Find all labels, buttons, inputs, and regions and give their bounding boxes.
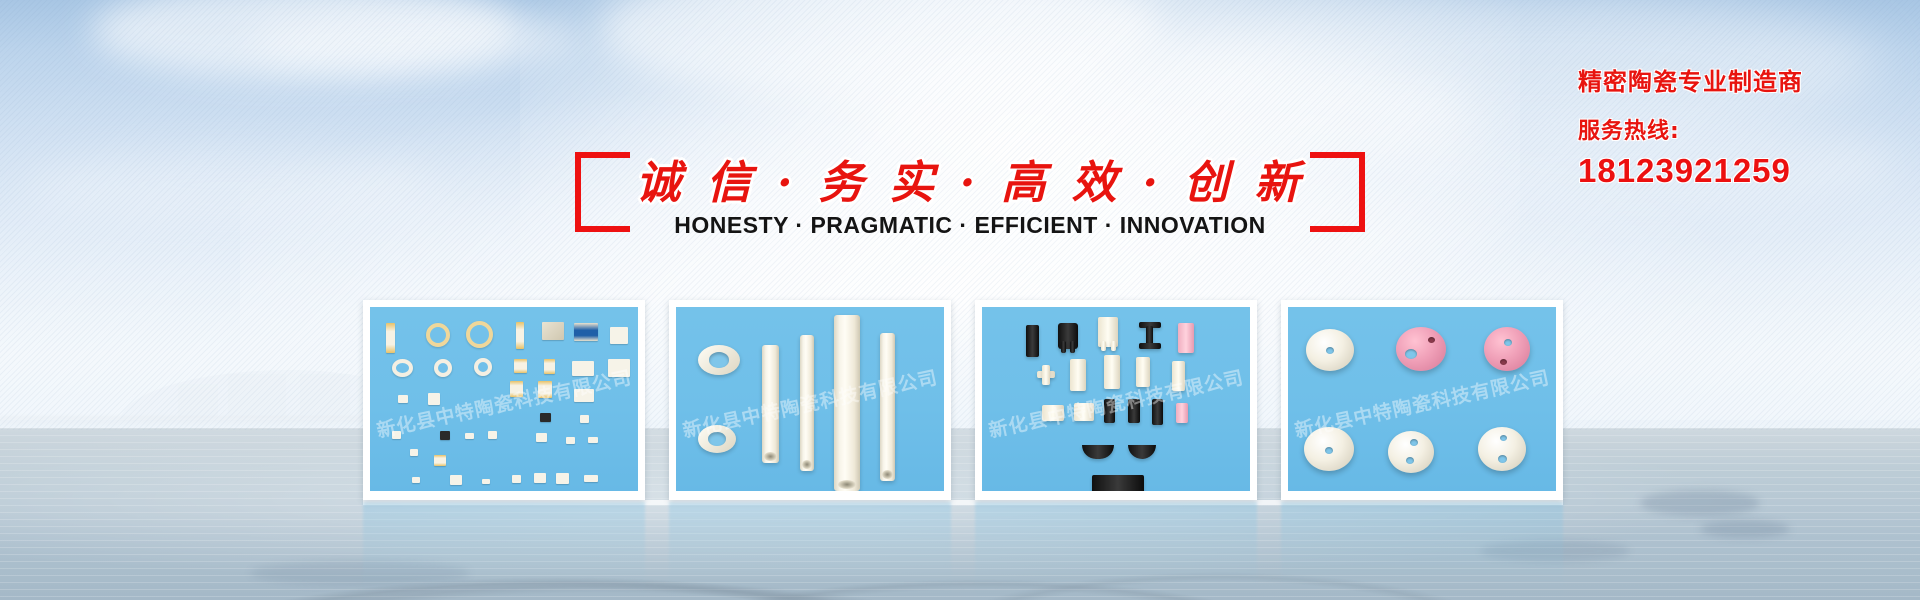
product-item [1101, 341, 1106, 351]
product-item [834, 315, 860, 491]
product-hole [1500, 359, 1507, 365]
product-item [1082, 445, 1114, 459]
puddle-shape [1480, 540, 1630, 562]
panel-ceramic-discs[interactable]: 新化县中特陶瓷科技有限公司 [1281, 300, 1563, 500]
product-item [698, 345, 740, 375]
product-item [1092, 475, 1144, 491]
panel-reflection-edge [363, 500, 1563, 505]
product-item [1396, 327, 1446, 371]
product-item [1128, 445, 1156, 459]
product-item [474, 358, 492, 376]
product-item [412, 477, 420, 483]
hero-banner: 诚 信 · 务 实 · 高 效 · 创 新 HONESTY · PRAGMATI… [0, 0, 1920, 600]
product-item [540, 413, 551, 422]
product-item [1070, 341, 1075, 353]
product-hole [1428, 337, 1435, 343]
product-panel-row: 新化县中特陶瓷科技有限公司 [363, 300, 1563, 500]
panel-watermark: 新化县中特陶瓷科技有限公司 [374, 362, 634, 442]
panel-image-area: 新化县中特陶瓷科技有限公司 [676, 307, 944, 491]
product-item [1139, 343, 1161, 349]
product-item [1042, 405, 1064, 421]
panel-image-area: 新化县中特陶瓷科技有限公司 [370, 307, 638, 491]
contact-info-block: 精密陶瓷专业制造商 服务热线: 18123921259 [1578, 62, 1908, 190]
panel-ceramic-tubes[interactable]: 新化县中特陶瓷科技有限公司 [669, 300, 951, 500]
product-item [1042, 365, 1050, 385]
product-hole [1500, 435, 1507, 441]
product-item [1128, 399, 1140, 423]
product-hole [1406, 457, 1414, 464]
company-tagline: 精密陶瓷专业制造商 [1578, 62, 1908, 97]
product-item [534, 473, 546, 483]
product-item [1061, 341, 1066, 353]
product-hole [1498, 455, 1507, 463]
product-item [434, 359, 452, 377]
product-item [482, 479, 490, 484]
product-item [386, 323, 395, 353]
product-item [512, 475, 521, 483]
product-item [536, 433, 547, 442]
product-item [428, 393, 440, 405]
puddle-shape [1640, 490, 1760, 516]
product-item [1388, 431, 1434, 473]
product-item [1026, 325, 1039, 357]
slogan-block: 诚 信 · 务 实 · 高 效 · 创 新 HONESTY · PRAGMATI… [575, 140, 1365, 240]
hotline-number[interactable]: 18123921259 [1578, 152, 1908, 190]
product-hole [1405, 349, 1417, 359]
product-item [516, 322, 524, 349]
product-item [392, 431, 401, 439]
product-item [450, 475, 462, 485]
product-item [556, 473, 569, 484]
product-item [1136, 357, 1150, 387]
product-item [762, 345, 779, 463]
product-item [1074, 403, 1094, 421]
product-item [1111, 341, 1116, 351]
product-hole [1326, 347, 1334, 354]
product-item [514, 359, 527, 373]
product-item [538, 381, 552, 398]
panel-ceramic-blocks[interactable]: 新化县中特陶瓷科技有限公司 [975, 300, 1257, 500]
product-hole [1325, 447, 1333, 454]
product-item [510, 381, 523, 397]
product-item [800, 335, 814, 471]
product-item [608, 359, 630, 377]
product-item [1176, 403, 1188, 423]
product-item [488, 431, 497, 439]
product-item [544, 359, 555, 374]
panel-smd-components[interactable]: 新化县中特陶瓷科技有限公司 [363, 300, 645, 500]
product-item [1070, 359, 1086, 391]
product-item [542, 322, 564, 340]
product-item [440, 431, 450, 440]
product-item [1172, 361, 1185, 391]
slogan-chinese: 诚 信 · 务 实 · 高 效 · 创 新 [575, 146, 1365, 211]
product-item [398, 395, 408, 403]
product-item [1178, 323, 1194, 353]
product-item [880, 333, 895, 481]
product-item [426, 323, 450, 347]
product-item [610, 327, 628, 344]
product-hole [1504, 339, 1512, 346]
product-item [466, 321, 493, 348]
hotline-label: 服务热线: [1578, 113, 1908, 145]
product-item [588, 437, 598, 443]
product-hole [1410, 439, 1418, 446]
product-item [580, 415, 589, 423]
product-item [698, 425, 736, 453]
product-item [1478, 427, 1526, 471]
puddle-shape [250, 560, 470, 586]
product-item [1104, 399, 1115, 423]
product-item [410, 449, 418, 456]
product-item [566, 437, 575, 444]
product-item [574, 323, 598, 341]
product-item [434, 455, 446, 466]
product-item [465, 433, 474, 439]
panel-image-area: 新化县中特陶瓷科技有限公司 [1288, 307, 1556, 491]
panel-image-area: 新化县中特陶瓷科技有限公司 [982, 307, 1250, 491]
slogan-english: HONESTY · PRAGMATIC · EFFICIENT · INNOVA… [575, 212, 1365, 239]
product-item [1104, 355, 1120, 389]
product-item [574, 389, 594, 402]
product-item [584, 475, 598, 482]
product-item [572, 361, 594, 376]
product-item [1484, 327, 1530, 371]
product-item [392, 359, 413, 377]
puddle-shape [1700, 520, 1790, 538]
product-item [1152, 399, 1163, 425]
